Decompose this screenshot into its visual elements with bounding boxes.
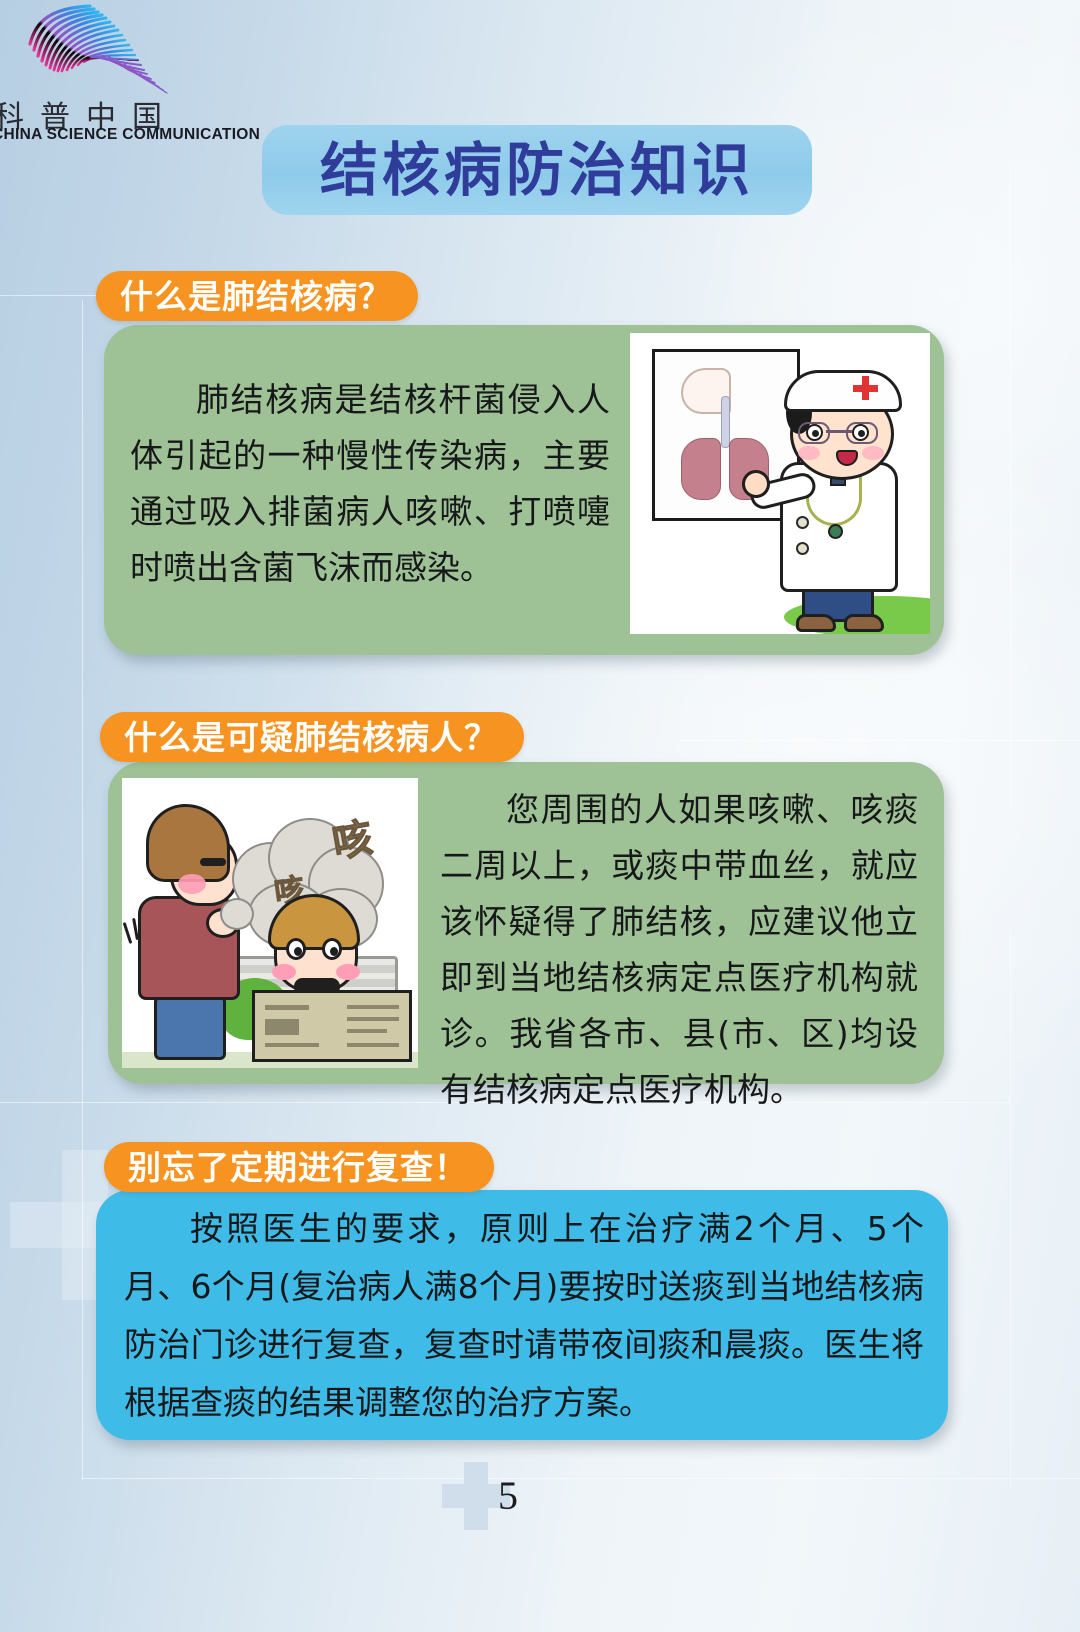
page-number: 5 — [498, 1472, 518, 1519]
section-body-what-is-tb: 肺结核病是结核杆菌侵入人体引起的一种慢性传染病，主要通过吸入排菌病人咳嗽、打喷嚏… — [130, 372, 610, 596]
eyeglasses-frame-right — [846, 422, 878, 444]
section-body-suspected-tb-patient: 您周围的人如果咳嗽、咳痰二周以上，或痰中带血丝，就应该怀疑得了肺结核，应建议他立… — [440, 782, 918, 1118]
trachea-shape — [721, 396, 730, 448]
section-header-label: 别忘了定期进行复查！ — [128, 1151, 468, 1184]
section-header-suspected-tb-patient: 什么是可疑肺结核病人？ — [100, 712, 524, 762]
motion-line-1 — [123, 922, 133, 944]
doctor-shoe-left — [796, 614, 836, 632]
left-lung-shape — [681, 438, 721, 500]
page-title-pill: 结核病防治知识 — [262, 125, 812, 215]
page-title: 结核病防治知识 — [320, 141, 754, 199]
doctor-cheek-left — [798, 446, 820, 460]
newspaper — [252, 990, 412, 1062]
doctor-cap — [784, 370, 902, 412]
red-cross-horizontal — [853, 385, 878, 392]
reading-person-cheek-left — [272, 964, 296, 980]
reading-person-eye-right — [322, 938, 342, 960]
coughing-person-hair — [146, 804, 230, 882]
section-header-label: 什么是肺结核病？ — [120, 280, 392, 313]
reading-person-eye-left — [286, 938, 306, 960]
illustration-man-coughing-near-reader: 咳 咳 — [122, 778, 418, 1068]
brand-logo: 科普中国 CHINA SCIENCE COMMUNICATION — [0, 0, 232, 140]
feather-gradient-logo-icon — [12, 2, 182, 97]
doctor-shoe-right — [844, 614, 884, 632]
reading-person-cheek-right — [336, 964, 360, 980]
coat-button-2 — [796, 542, 809, 555]
doctor-cheek-right — [862, 446, 884, 460]
coughing-person-cheek — [178, 874, 206, 894]
reading-person — [260, 894, 412, 1066]
stethoscope-chestpiece — [828, 524, 843, 539]
coughing-person-legs — [154, 994, 226, 1060]
logo-english-text: CHINA SCIENCE COMMUNICATION — [0, 126, 242, 144]
section-header-dont-forget-recheck: 别忘了定期进行复查！ — [104, 1142, 494, 1192]
section-body-dont-forget-recheck: 按照医生的要求，原则上在治疗满2个月、5个月、6个月(复治病人满8个月)要按时送… — [124, 1200, 924, 1432]
illustration-doctor-pointing-at-lung-chart — [630, 333, 930, 634]
doctor-figure — [744, 366, 930, 634]
coat-button-1 — [796, 516, 809, 529]
reading-person-hair — [268, 894, 360, 950]
section-header-label: 什么是可疑肺结核病人？ — [124, 721, 498, 754]
eyeglasses-frame-left — [798, 422, 830, 444]
section-header-what-is-tb: 什么是肺结核病？ — [96, 271, 418, 321]
